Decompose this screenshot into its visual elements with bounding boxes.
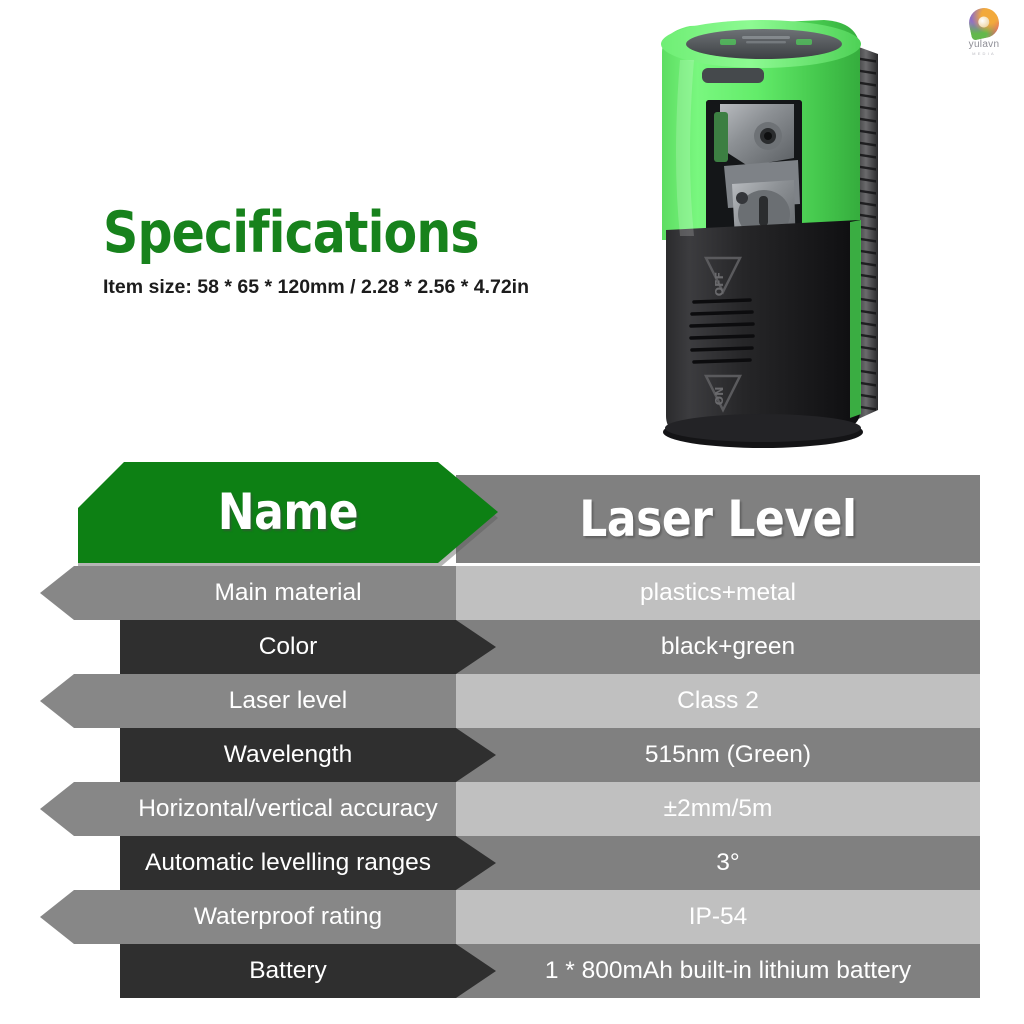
header-name-label: Name: [140, 462, 436, 563]
row-value-text: 3°: [476, 836, 980, 890]
row-name-text: Waterproof rating: [120, 890, 456, 944]
row-name-text: Automatic levelling ranges: [120, 836, 456, 890]
watermark-subtitle: MEDIA: [958, 52, 1010, 56]
item-size-text: Item size: 58 * 65 * 120mm / 2.28 * 2.56…: [103, 276, 703, 299]
row-value-text: 1 * 800mAh built-in lithium battery: [476, 944, 980, 998]
table-row: Horizontal/vertical accuracy ±2mm/5m: [0, 782, 1024, 836]
row-left-tab: [40, 566, 120, 620]
row-name-text: Horizontal/vertical accuracy: [120, 782, 456, 836]
row-value-text: black+green: [476, 620, 980, 674]
table-row: Wavelength 515nm (Green): [0, 728, 1024, 782]
row-value-text: IP-54: [456, 890, 980, 944]
green-edge-accent: [850, 220, 861, 418]
watermark: yulavn MEDIA: [958, 8, 1010, 58]
row-name-text: Laser level: [120, 674, 456, 728]
table-row: Color black+green: [0, 620, 1024, 674]
row-value-text: Class 2: [456, 674, 980, 728]
table-row: Waterproof rating IP-54: [0, 890, 1024, 944]
header-value-label: Laser Level: [487, 475, 948, 563]
row-name-text: Color: [120, 620, 456, 674]
switch-on-label: ON: [713, 387, 726, 406]
page-title: Specifications: [103, 205, 619, 262]
row-name-text: Battery: [120, 944, 456, 998]
row-name-text: Main material: [120, 566, 456, 620]
specifications-heading-block: Specifications Item size: 58 * 65 * 120m…: [103, 205, 703, 299]
row-left-tab: [40, 890, 120, 944]
table-row: Laser level Class 2: [0, 674, 1024, 728]
top-control-panel: [686, 29, 842, 59]
switch-off-label: OFF: [713, 272, 726, 296]
table-row: Main material plastics+metal: [0, 566, 1024, 620]
row-value-text: 515nm (Green): [476, 728, 980, 782]
row-left-tab: [40, 782, 120, 836]
specifications-table: Name Laser Level Main material plastics+…: [0, 462, 1024, 1007]
vent-slot: [702, 68, 764, 83]
watermark-name: yulavn: [958, 40, 1010, 50]
row-value-text: plastics+metal: [456, 566, 980, 620]
table-header-row: Name Laser Level: [0, 462, 1024, 563]
row-value-text: ±2mm/5m: [456, 782, 980, 836]
row-left-tab: [40, 674, 120, 728]
table-row: Battery 1 * 800mAh built-in lithium batt…: [0, 944, 1024, 998]
chameleon-logo-icon: [966, 5, 1002, 41]
table-row: Automatic levelling ranges 3°: [0, 836, 1024, 890]
row-name-text: Wavelength: [120, 728, 456, 782]
